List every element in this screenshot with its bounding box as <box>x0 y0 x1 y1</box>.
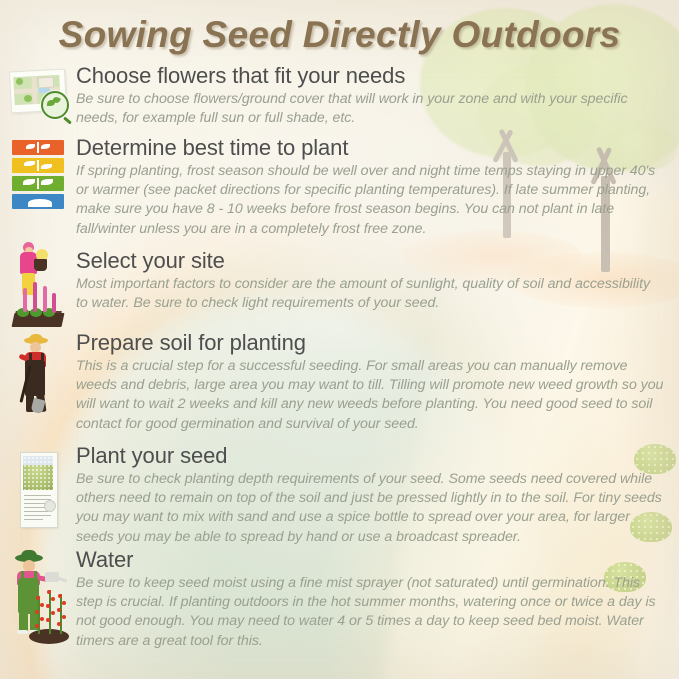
bar-leaf <box>26 144 35 149</box>
flower-bud <box>40 603 44 607</box>
flower-bud <box>57 608 61 612</box>
bar-stem <box>37 178 39 189</box>
step-select-site: Select your site Most important factors … <box>0 249 679 331</box>
packet-text-line <box>24 515 51 516</box>
step-body: Be sure to check planting depth requirem… <box>76 470 665 547</box>
spring-bar <box>12 140 64 155</box>
step-heading: Determine best time to plant <box>76 136 665 161</box>
step-plant-seed: Plant your seed Be sure to check plantin… <box>0 444 679 548</box>
step-heading: Choose flowers that fit your needs <box>76 64 665 89</box>
step-text: Choose flowers that fit your needs Be su… <box>76 64 679 128</box>
flower-pot <box>34 259 47 271</box>
summer-bar <box>12 176 64 191</box>
flower-bud <box>51 597 55 601</box>
step-prepare-soil: Prepare soil for planting This is a cruc… <box>0 331 679 444</box>
packet-photo-texture <box>23 456 53 490</box>
flower-bud <box>46 604 50 608</box>
gardener-leg <box>19 608 28 632</box>
flower-bud <box>36 596 40 600</box>
step-body: If spring planting, frost season should … <box>76 162 665 239</box>
step-heading: Prepare soil for planting <box>76 331 665 356</box>
step-icon-slot <box>0 331 76 417</box>
flower-bud <box>35 610 39 614</box>
packet-text-line <box>24 495 51 496</box>
person-planting-flowers-icon <box>11 239 65 327</box>
magnifier-handle <box>63 116 72 124</box>
flower-stem <box>60 594 62 634</box>
step-body: This is a crucial step for a successful … <box>76 357 665 434</box>
bar-leaf <box>41 179 53 185</box>
watering-can-spout <box>57 576 67 582</box>
flower-bud <box>35 624 39 628</box>
flower-spike <box>23 288 27 312</box>
four-seasons-bars-icon <box>12 140 64 210</box>
step-heading: Plant your seed <box>76 444 665 469</box>
step-icon-slot <box>0 444 76 530</box>
plan-bed <box>24 95 32 102</box>
flower-bud <box>46 618 50 622</box>
gardener-watering-icon <box>7 552 69 644</box>
packet-text-line <box>24 503 46 504</box>
step-text: Select your site Most important factors … <box>76 249 679 313</box>
bar-leaf <box>41 164 52 169</box>
step-heading: Water <box>76 548 665 573</box>
flower-bud <box>62 601 66 605</box>
step-body: Most important factors to consider are t… <box>76 275 665 314</box>
step-water: Water Be sure to keep seed moist using a… <box>0 548 679 658</box>
flower-spike <box>43 286 47 312</box>
step-text: Plant your seed Be sure to check plantin… <box>76 444 679 547</box>
bar-leaf <box>24 161 35 166</box>
seed-packet-icon <box>14 448 62 530</box>
step-body: Be sure to choose flowers/ground cover t… <box>76 90 665 129</box>
farmer-with-shovel-icon <box>14 335 62 417</box>
packet-text-line <box>24 519 43 520</box>
step-heading: Select your site <box>76 249 665 274</box>
flower-bud <box>47 590 51 594</box>
bar-leaf <box>41 144 50 149</box>
magnifier-icon <box>41 91 69 119</box>
flower-spike <box>33 282 37 312</box>
flower-bud <box>58 594 62 598</box>
winter-bar <box>12 194 64 209</box>
poster-title: Sowing Seed Directly Outdoors <box>0 14 679 56</box>
flower-bud <box>40 617 44 621</box>
packet-text-line <box>24 511 48 512</box>
step-icon-slot <box>0 136 76 210</box>
autumn-bar <box>12 158 64 173</box>
flower-stem <box>38 596 40 634</box>
packet-seal <box>44 500 56 512</box>
bar-leaf <box>23 179 35 185</box>
garden-plan-magnifier-icon <box>8 68 68 116</box>
flower-bud <box>51 611 55 615</box>
step-body: Be sure to keep seed moist using a fine … <box>76 574 665 651</box>
bar-snow <box>28 199 52 207</box>
step-icon-slot <box>0 249 76 327</box>
step-text: Determine best time to plant If spring p… <box>76 136 679 239</box>
flower-spike <box>52 293 56 313</box>
step-determine-time: Determine best time to plant If spring p… <box>0 136 679 249</box>
step-choose-flowers: Choose flowers that fit your needs Be su… <box>0 64 679 136</box>
flower-bud <box>57 622 61 626</box>
bar-stem <box>37 142 39 153</box>
step-text: Water Be sure to keep seed moist using a… <box>76 548 679 651</box>
bar-stem <box>37 160 39 171</box>
step-text: Prepare soil for planting This is a cruc… <box>76 331 679 434</box>
steps-list: Choose flowers that fit your needs Be su… <box>0 64 679 658</box>
gardener-shoe <box>17 630 28 634</box>
step-icon-slot <box>0 548 76 644</box>
plan-bed <box>16 78 23 85</box>
plan-house <box>38 77 55 89</box>
step-icon-slot <box>0 64 76 116</box>
infographic-poster: Sowing Seed Directly Outdoors <box>0 0 679 679</box>
flower-bud <box>62 615 66 619</box>
